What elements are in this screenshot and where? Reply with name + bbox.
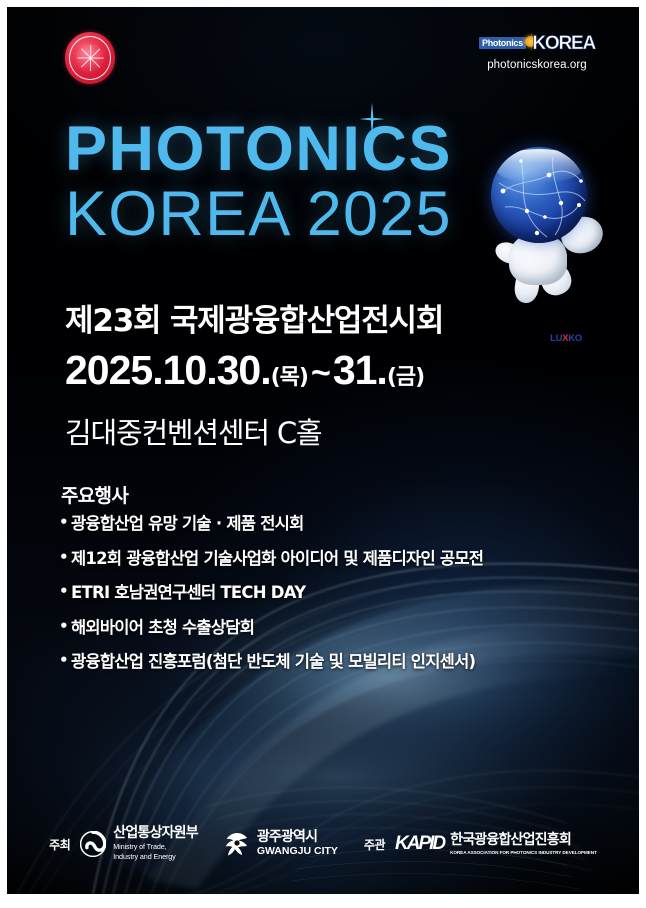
kapid-name-block: 한국광융합산업진흥회 KOREA ASSOCIATION FOR PHOTONI…	[450, 833, 597, 855]
date-end: 31.	[333, 347, 387, 393]
kapid-name-en: KOREA ASSOCIATION FOR PHOTONICS INDUSTRY…	[450, 850, 597, 856]
poster-stage: Photonics KOREA photonicskorea.org LUXKO	[0, 0, 646, 908]
motie-name-ko: 산업통상자원부	[113, 826, 198, 841]
date-end-weekday: (금)	[387, 365, 424, 390]
date-range-tilde: ~	[308, 354, 333, 392]
program-list: 광융합산업 유망 기술 · 제품 전시회 제12회 광융합산업 기술사업화 아이…	[59, 516, 619, 689]
program-heading: 주요행사	[61, 481, 128, 508]
subtitle-korean: 제23회 국제광융합산업전시회	[65, 295, 605, 340]
gwangju-city-group: 광주광역시 GWANGJU CITY	[224, 830, 338, 857]
mascot-globe-head	[491, 147, 587, 243]
organizer-label: 주관	[364, 836, 385, 853]
organizer-group: 주관 KAPID 한국광융합산업진흥회 KOREA ASSOCIATION FO…	[364, 833, 597, 855]
motie-taegeuk-icon	[80, 831, 106, 857]
host-label: 주최	[49, 836, 70, 853]
gwangju-name-ko: 광주광역시	[257, 830, 338, 845]
poster-footer: 주최 산업통상자원부 Ministry of Trade, Industry a…	[7, 826, 639, 862]
gwangju-red-seal-logo	[65, 32, 115, 84]
date-start: 2025.10.30.	[65, 347, 271, 393]
host-group: 주최 산업통상자원부 Ministry of Trade, Industry a…	[49, 826, 198, 862]
luxko-mascot: LUXKO	[483, 147, 603, 297]
program-item: 광융합산업 유망 기술 · 제품 전시회	[59, 516, 619, 533]
event-venue: 김대중컨벤션센터 C홀	[65, 410, 625, 452]
korea-wordmark: KOREA	[532, 33, 595, 55]
program-item: ETRI 호남권연구센터 TECH DAY	[59, 585, 619, 602]
motie-name-en-line1: Ministry of Trade,	[113, 843, 198, 852]
kapid-logo-icon: KAPID	[395, 833, 444, 855]
gwangju-name-en: GWANGJU CITY	[257, 846, 338, 858]
event-date: 2025.10.30.(목)~31.(금)	[65, 347, 625, 394]
title-line-korea-2025: KOREA 2025	[65, 183, 495, 246]
date-start-weekday: (목)	[271, 365, 308, 390]
mascot-visor-highlight	[495, 149, 583, 183]
website-url[interactable]: photonicskorea.org	[479, 59, 595, 71]
gwangju-city-icon	[224, 831, 250, 857]
photonics-korea-poster: Photonics KOREA photonicskorea.org LUXKO	[7, 7, 639, 894]
poster-title: PHOTONICS KOREA 2025	[65, 119, 495, 246]
title-line-photonics: PHOTONICS	[65, 119, 495, 180]
photonics-korea-mark: Photonics KOREA	[479, 33, 595, 56]
motie-name-block: 산업통상자원부 Ministry of Trade, Industry and …	[113, 826, 198, 862]
kapid-name-ko: 한국광융합산업진흥회	[450, 833, 597, 848]
program-item: 해외바이어 초청 수출상담회	[59, 620, 619, 637]
motie-name-en-line2: Industry and Energy	[113, 853, 198, 862]
gwangju-name-block: 광주광역시 GWANGJU CITY	[257, 830, 338, 857]
photonics-wordmark: Photonics	[479, 37, 526, 49]
photonics-korea-logo[interactable]: Photonics KOREA photonicskorea.org	[479, 33, 595, 71]
program-item: 광융합산업 진흥포럼(첨단 반도체 기술 및 모빌리티 인지센서)	[59, 654, 619, 671]
program-item: 제12회 광융합산업 기술사업화 아이디어 및 제품디자인 공모전	[59, 551, 619, 568]
